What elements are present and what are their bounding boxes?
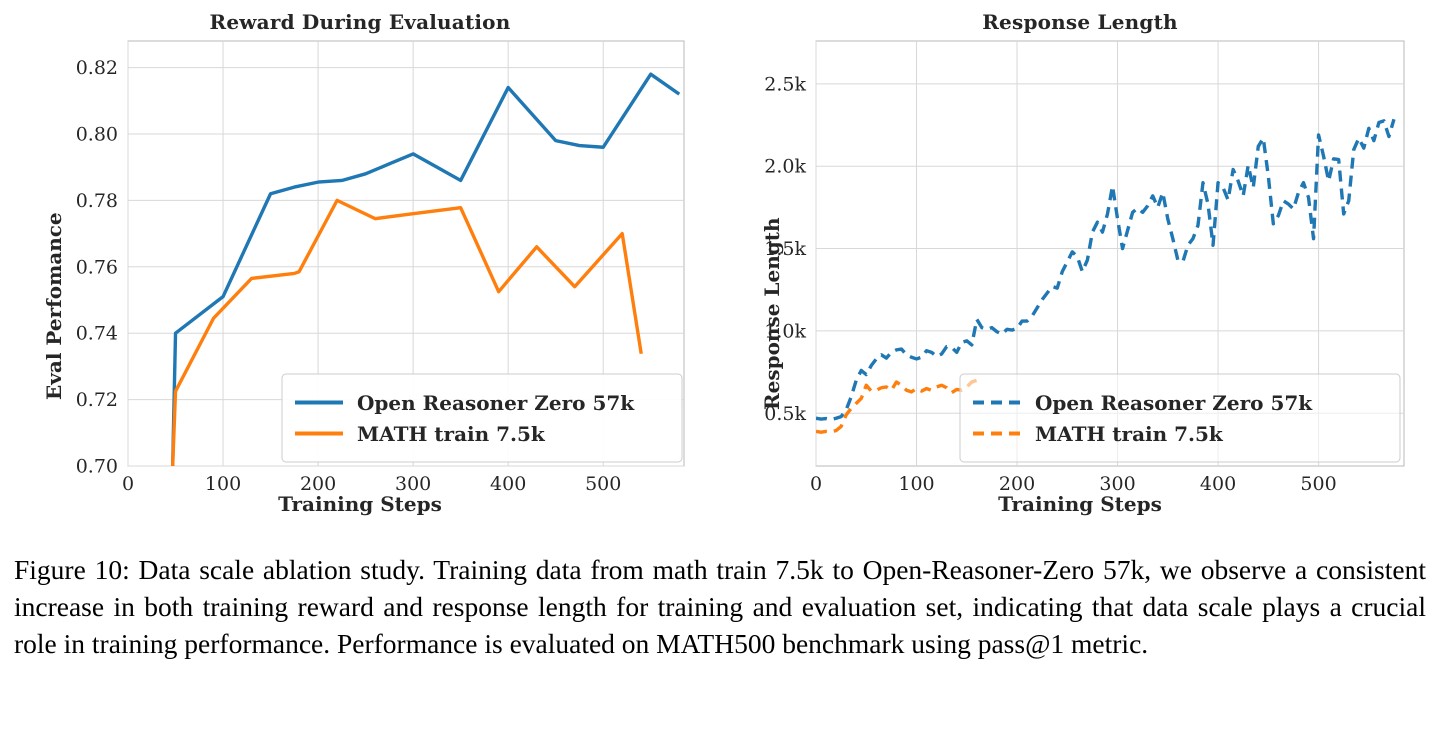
legend-label-0: Open Reasoner Zero 57k [357, 391, 635, 415]
figure-charts-row: Reward During Evaluation Eval Perfomance… [0, 0, 1440, 540]
y-tick-label-4: 2.5k [764, 73, 806, 95]
chart-title-response-length: Response Length [720, 10, 1440, 34]
legend-label-1: MATH train 7.5k [357, 422, 546, 446]
x-axis-label-reward: Training Steps [0, 492, 720, 516]
y-tick-label-3: 2.0k [764, 156, 806, 178]
legend-label-0: Open Reasoner Zero 57k [1035, 391, 1313, 415]
y-tick-label-1: 0.72 [76, 389, 118, 411]
y-axis-label-reward: Eval Perfomance [42, 212, 66, 400]
chart-title-reward: Reward During Evaluation [0, 10, 720, 34]
legend-box [960, 374, 1400, 462]
y-tick-label-3: 0.76 [76, 256, 118, 278]
chart-panel-reward: Reward During Evaluation Eval Perfomance… [0, 0, 720, 540]
legend-label-1: MATH train 7.5k [1035, 422, 1224, 446]
chart-svg-response-length: 0.5k1.0k1.5k2.0k2.5k0100200300400500Open… [720, 0, 1440, 540]
legend-box [282, 374, 682, 462]
legend: Open Reasoner Zero 57kMATH train 7.5k [282, 374, 682, 462]
y-tick-label-4: 0.78 [76, 190, 118, 212]
chart-svg-reward: 0.700.720.740.760.780.800.82010020030040… [0, 0, 720, 540]
y-tick-label-5: 0.80 [76, 123, 118, 145]
legend: Open Reasoner Zero 57kMATH train 7.5k [960, 374, 1400, 462]
figure-caption: Figure 10: Data scale ablation study. Tr… [14, 552, 1426, 663]
figure-page: Reward During Evaluation Eval Perfomance… [0, 0, 1440, 738]
y-axis-label-response-length: Response Length [760, 217, 784, 410]
y-tick-label-2: 0.74 [76, 323, 118, 345]
chart-panel-response-length: Response Length Response Length 0.5k1.0k… [720, 0, 1440, 540]
x-axis-label-response-length: Training Steps [720, 492, 1440, 516]
y-tick-label-6: 0.82 [76, 57, 118, 79]
y-tick-label-0: 0.70 [76, 456, 118, 478]
